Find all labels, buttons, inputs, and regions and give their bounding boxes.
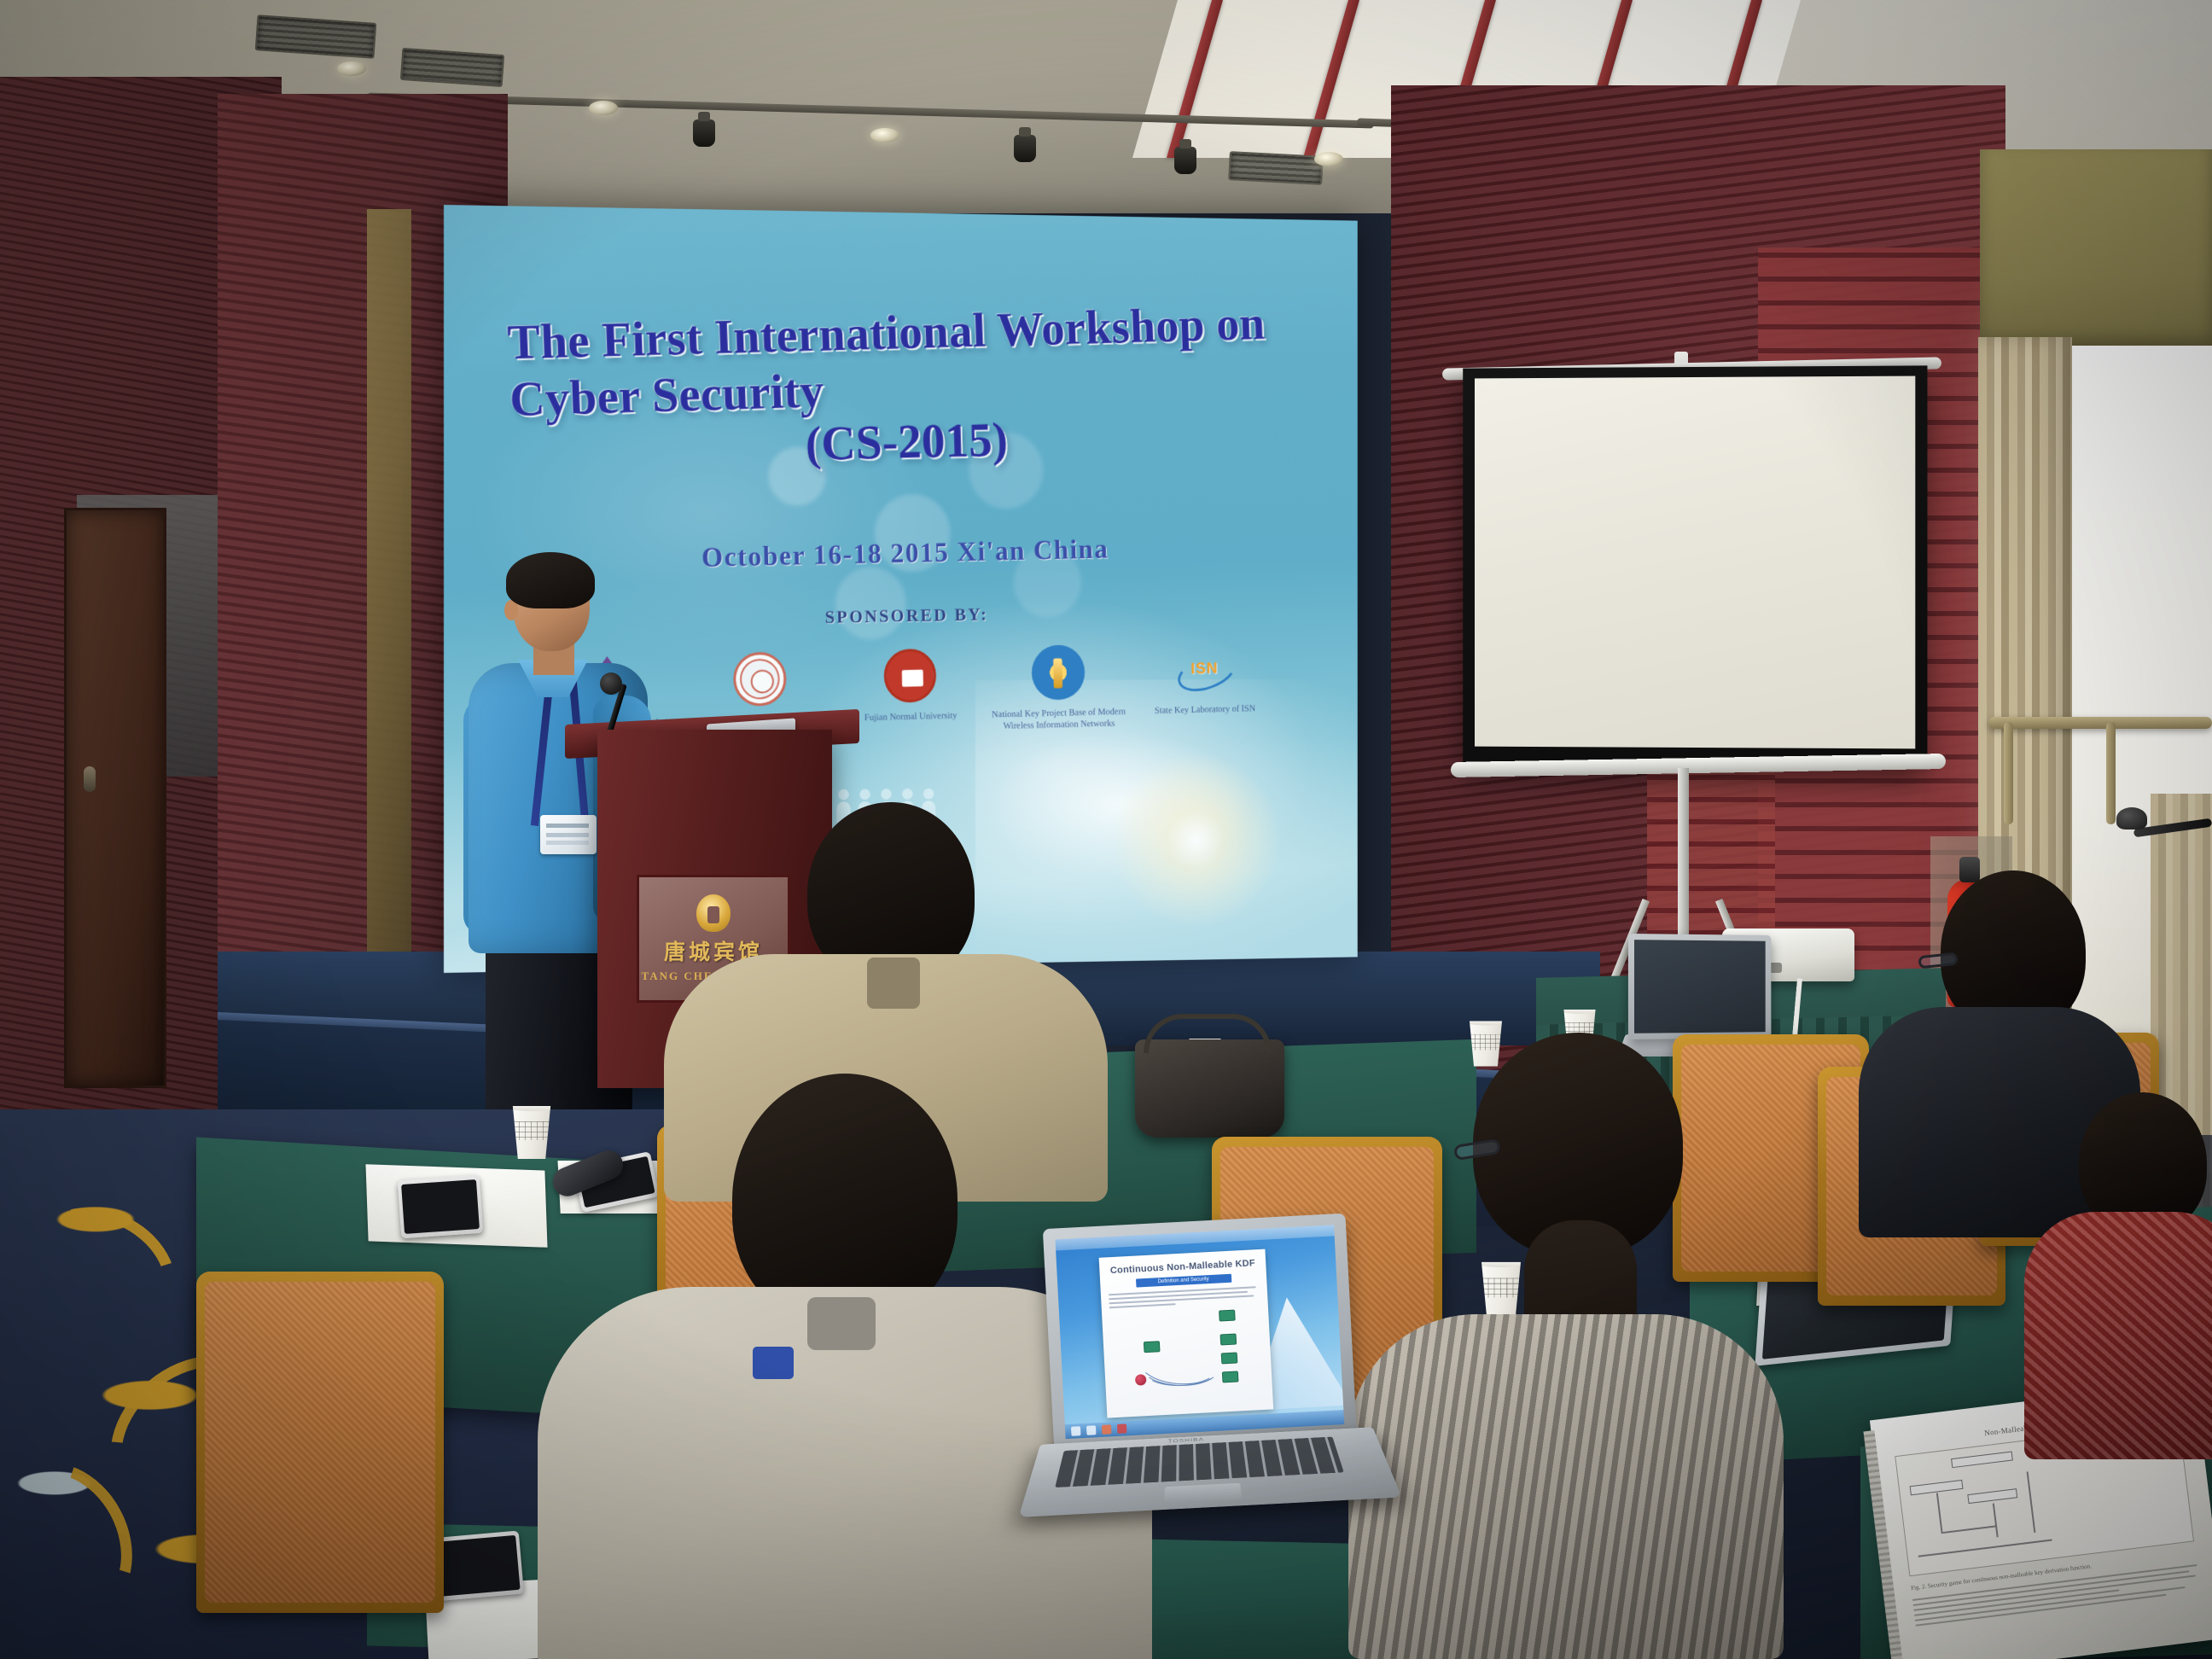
rail-post (2004, 722, 2013, 824)
foreground-laptop[interactable]: Continuous Non-Malleable KDF Definition … (1043, 1212, 1384, 1569)
asn-logo-icon: ISN (1137, 636, 1271, 703)
sponsor-3: Fujian Normal University (841, 642, 979, 725)
sponsor-4-caption: National Key Project Base of Modern Wire… (991, 707, 1126, 733)
conference-room-photo: The First International Workshop on Cybe… (0, 0, 2212, 1659)
attendee-ponytail-body (1348, 1314, 1784, 1659)
speaker-name-badge (540, 815, 597, 854)
ceiling-spotlight-3 (1174, 147, 1196, 174)
screen-menubar[interactable] (1055, 1225, 1334, 1250)
downlight-icon (337, 61, 366, 76)
downlight-icon-4 (1314, 152, 1343, 166)
laptop-screen[interactable]: Continuous Non-Malleable KDF Definition … (1055, 1225, 1344, 1439)
smartphone-screen (401, 1179, 480, 1234)
taskbar-icon-1[interactable] (1071, 1426, 1081, 1436)
rail-post-2 (2106, 722, 2116, 824)
door-knob[interactable] (84, 766, 96, 792)
laptop-trackpad[interactable] (1164, 1483, 1242, 1503)
slide-title: Continuous Non-Malleable KDF (1107, 1258, 1258, 1276)
slide-body-text (1109, 1286, 1260, 1308)
room-door[interactable] (64, 508, 166, 1088)
ceiling-spotlight-2 (1014, 135, 1036, 162)
projection-screen (1463, 365, 1927, 769)
slide-kdf-node-3 (1221, 1352, 1238, 1364)
wall-lamp-head (2116, 807, 2147, 829)
microphone-icon (600, 672, 622, 695)
taskbar-icon-3[interactable] (1102, 1424, 1112, 1435)
speaker-hair (506, 552, 595, 608)
laptop-lid: Continuous Non-Malleable KDF Definition … (1043, 1214, 1357, 1452)
slide-adversary-node (1135, 1374, 1147, 1386)
wall-pillar (367, 209, 411, 1062)
slide-subtitle: Definition and Security (1135, 1274, 1231, 1288)
projection-screen-surface (1475, 376, 1915, 749)
attendee-beige-jacket-collar (867, 958, 920, 1009)
slide-kdf-node-2 (1220, 1334, 1237, 1346)
smartphone[interactable] (398, 1175, 484, 1239)
window-guard-rail (1988, 717, 2212, 729)
slide-kdf-node-4 (1222, 1371, 1239, 1382)
banquet-chair-1[interactable] (196, 1272, 444, 1613)
taskbar-icon-4[interactable] (1117, 1423, 1127, 1434)
sponsor-5-caption: State Key Laboratory of ISN (1138, 703, 1272, 718)
equipment-laptop[interactable] (1628, 934, 1771, 1039)
equipment-laptop-screen (1634, 940, 1766, 1033)
slide-kdf-node-1 (1219, 1310, 1236, 1322)
attendee-grey-jacket-badge (753, 1347, 794, 1379)
laptop-brand-label: TOSHIBA (1168, 1437, 1204, 1444)
screen-tripod-pole (1678, 768, 1689, 939)
curtain-valance (1980, 149, 2212, 346)
blue-pillar-logo-icon (990, 638, 1126, 706)
presentation-slide: Continuous Non-Malleable KDF Definition … (1099, 1249, 1274, 1418)
downlight-icon-3 (870, 128, 899, 143)
slide-diagram (1109, 1307, 1264, 1388)
attendee-red-top-body (2024, 1212, 2212, 1459)
ceiling-spotlight (693, 119, 715, 147)
laptop-bag[interactable] (1135, 1039, 1284, 1138)
taskbar-icon-2[interactable] (1086, 1425, 1097, 1435)
attendee-ponytail (1348, 1033, 1784, 1659)
sponsor-3-caption: Fujian Normal University (842, 710, 980, 725)
sponsor-4: National Key Project Base of Modern Wire… (990, 638, 1126, 732)
laptop-keyboard[interactable] (1055, 1437, 1344, 1488)
attendee-grey-jacket-collar (807, 1297, 876, 1350)
seal-logo-icon (690, 645, 829, 713)
red-seal-logo-icon (841, 642, 979, 710)
smartphone-screen-3 (432, 1535, 520, 1597)
sponsor-5: ISN State Key Laboratory of ISN (1137, 636, 1272, 718)
downlight-icon-2 (589, 101, 618, 115)
attendee-red-top (2024, 1092, 2212, 1451)
ceiling-vent-3 (1228, 151, 1324, 185)
